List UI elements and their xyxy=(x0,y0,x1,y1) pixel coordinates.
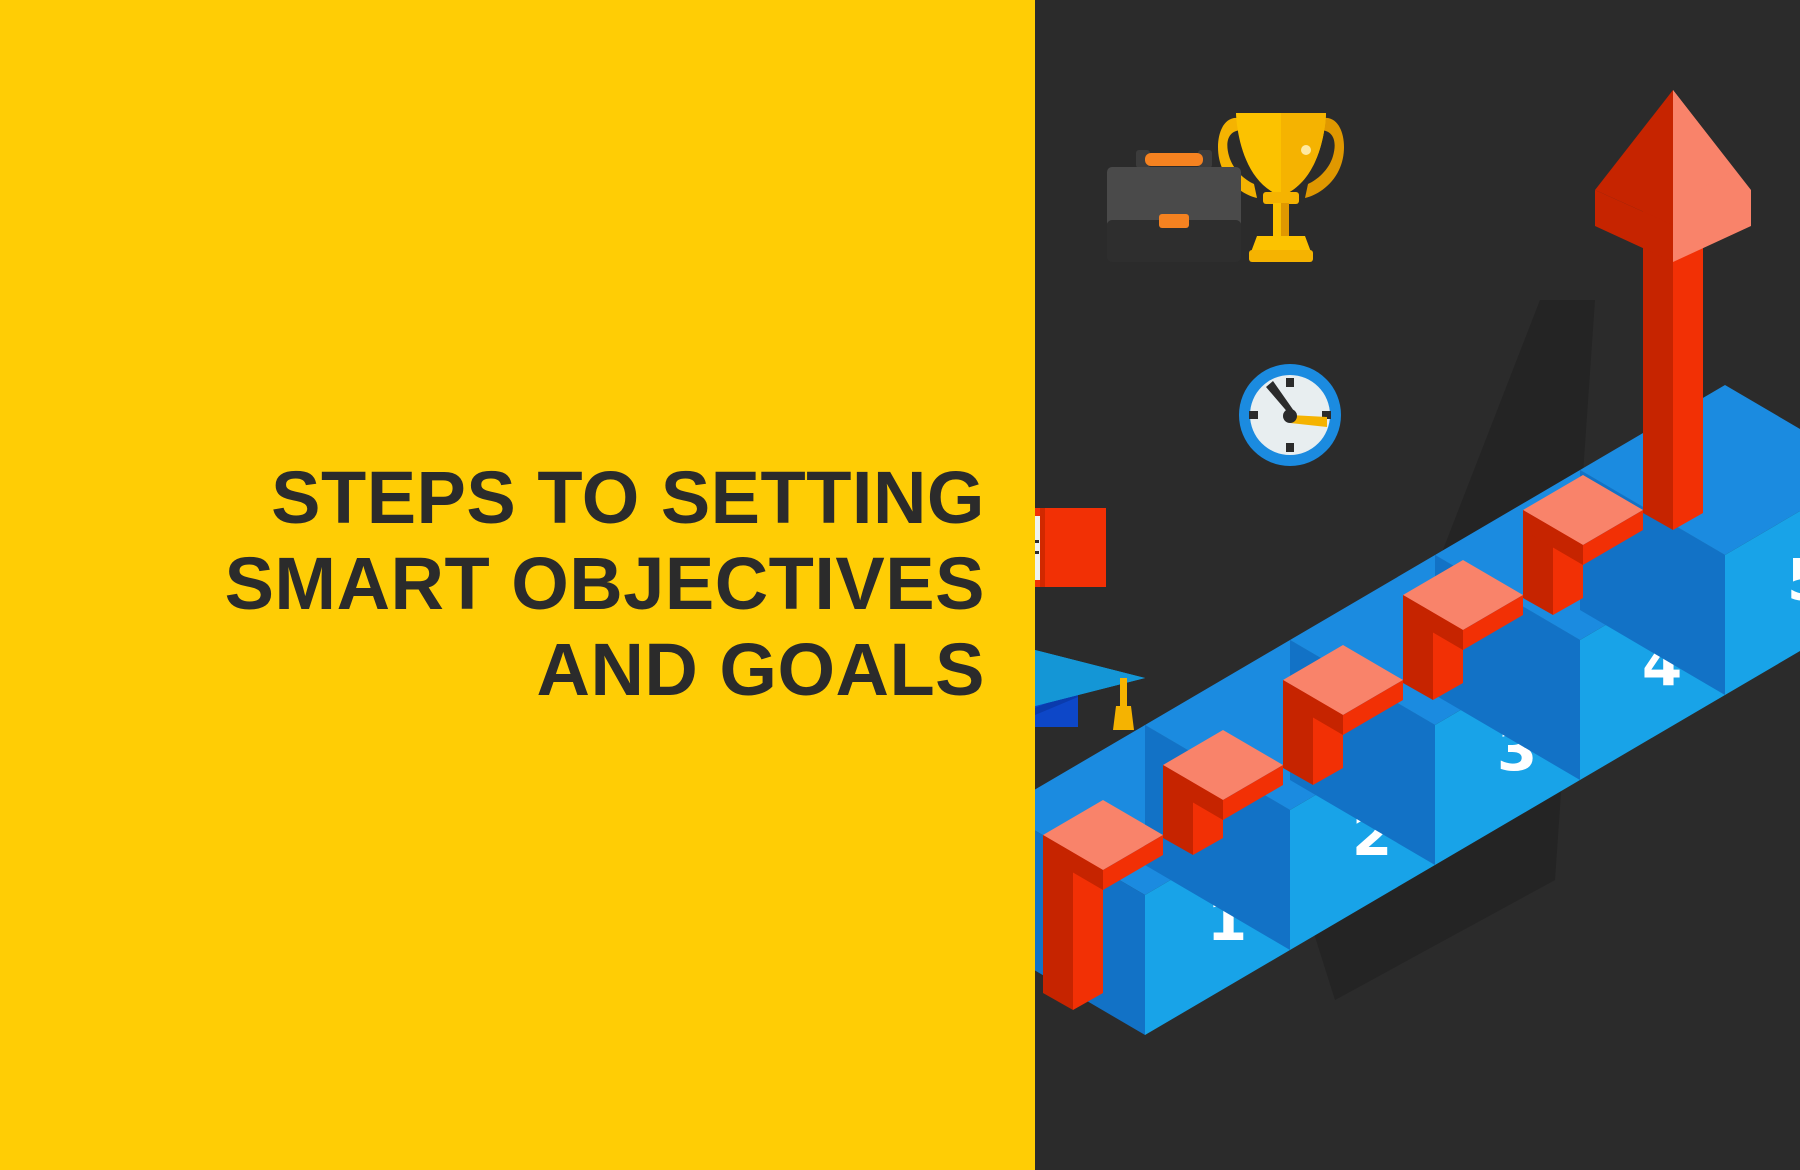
book-cover xyxy=(1035,508,1106,587)
clock-tick-12 xyxy=(1286,378,1294,387)
briefcase-icon xyxy=(1107,150,1241,262)
cap-board-shade xyxy=(1035,650,1145,706)
graduation-cap-icon xyxy=(1035,650,1145,730)
title-line-3: AND GOALS xyxy=(150,627,985,713)
trophy-highlight xyxy=(1301,145,1311,155)
page-title: STEPS TO SETTING SMART OBJECTIVES AND GO… xyxy=(150,455,985,713)
poster-canvas: STEPS TO SETTING SMART OBJECTIVES AND GO… xyxy=(0,0,1800,1170)
clock-icon xyxy=(1239,364,1341,466)
title-line-2: SMART OBJECTIVES xyxy=(150,541,985,627)
trophy-base xyxy=(1251,236,1311,252)
briefcase-handle xyxy=(1145,153,1203,166)
trophy-base-plate xyxy=(1249,250,1313,262)
arrow-up-icon xyxy=(1595,90,1751,262)
cap-tassel-cord xyxy=(1120,678,1127,708)
open-book-icon xyxy=(1035,508,1106,587)
book-spine xyxy=(1040,508,1045,587)
briefcase-latch xyxy=(1159,214,1189,228)
book-text-line-1 xyxy=(1035,540,1039,543)
step-number-5: 5 xyxy=(1787,546,1800,614)
book-text-line-2 xyxy=(1035,551,1039,554)
title-line-1: STEPS TO SETTING xyxy=(150,455,985,541)
cap-tassel xyxy=(1113,706,1134,730)
trophy-stem-shade xyxy=(1281,203,1289,237)
clock-tick-9 xyxy=(1249,411,1258,419)
trophy-neck-collar xyxy=(1263,192,1299,204)
clock-tick-6 xyxy=(1286,443,1294,452)
clock-center-pin xyxy=(1283,409,1297,423)
illustration-staircase: 1 2 3 4 5 xyxy=(1035,0,1800,1170)
